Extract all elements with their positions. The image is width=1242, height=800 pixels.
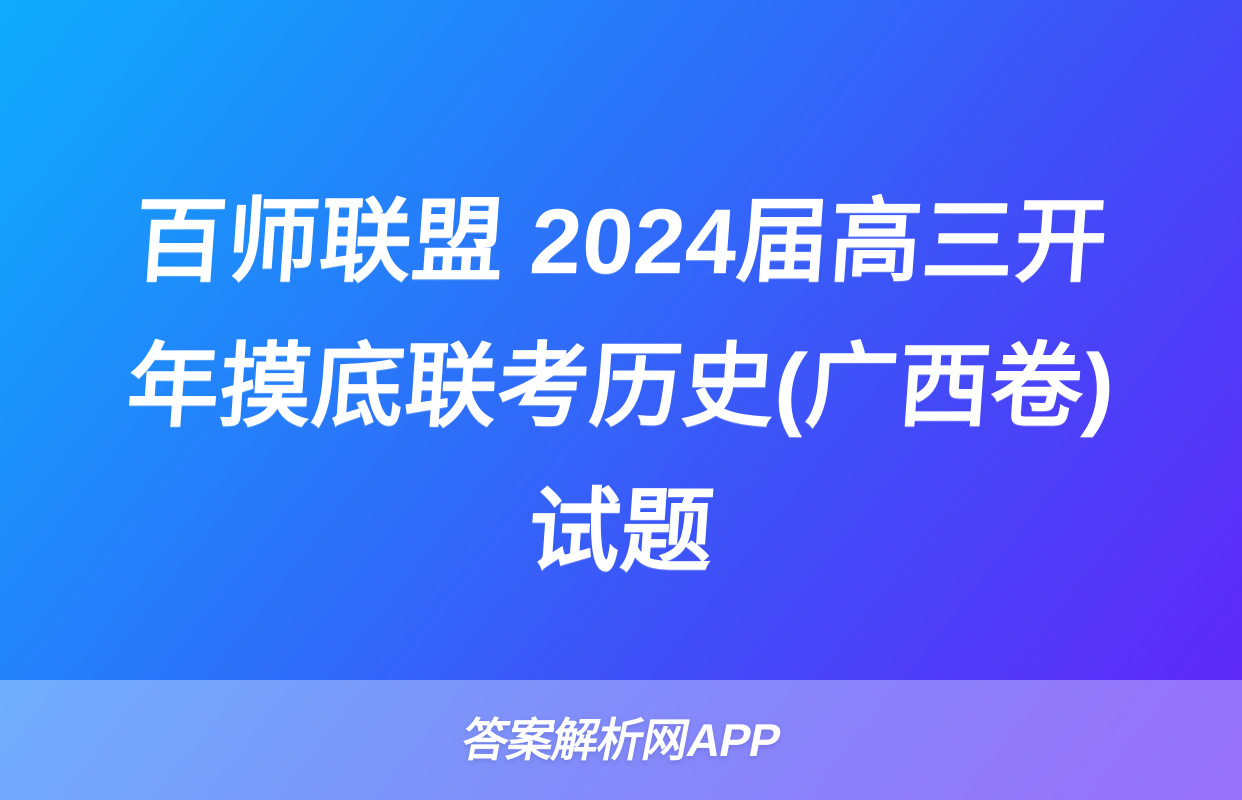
page-title: 百师联盟 2024届高三开 年摸底联考历史(广西卷) 试题 bbox=[0, 170, 1242, 605]
title-line-3: 试题 bbox=[65, 460, 1177, 605]
watermark-text: 答案解析网APP bbox=[458, 717, 784, 763]
watermark-band: 答案解析网APP bbox=[0, 680, 1242, 800]
exam-title-card: 百师联盟 2024届高三开 年摸底联考历史(广西卷) 试题 答案解析网APP bbox=[0, 0, 1242, 800]
title-line-2: 年摸底联考历史(广西卷) bbox=[65, 315, 1177, 460]
title-line-1: 百师联盟 2024届高三开 bbox=[65, 170, 1177, 315]
